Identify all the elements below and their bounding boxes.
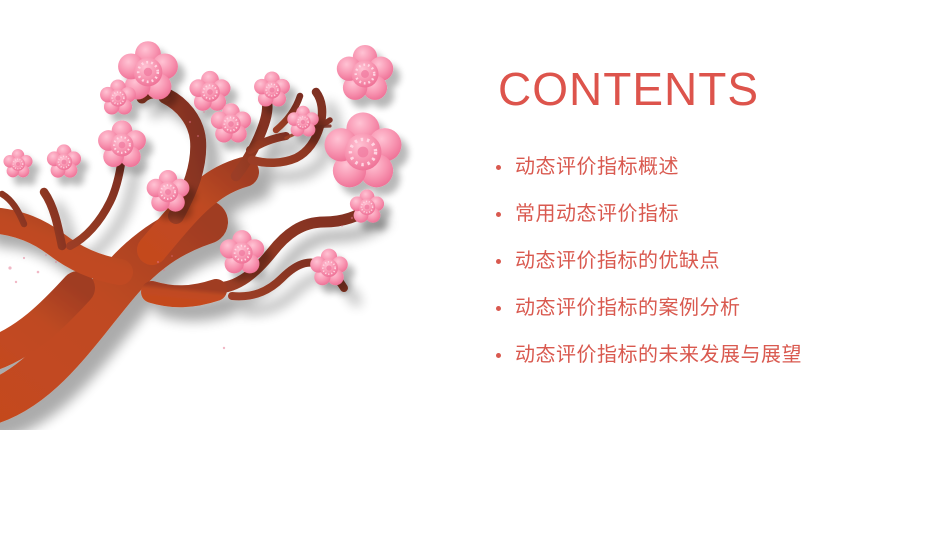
contents-panel: CONTENTS 动态评价指标概述 常用动态评价指标 动态评价指标的优缺点 动态… [470, 0, 950, 535]
toc-item-4[interactable]: 动态评价指标的案例分析 [480, 291, 840, 325]
toc-item-label: 动态评价指标的案例分析 [515, 291, 840, 325]
bullet-icon [496, 259, 501, 264]
slide-canvas: CONTENTS 动态评价指标概述 常用动态评价指标 动态评价指标的优缺点 动态… [0, 0, 950, 535]
toc-item-2[interactable]: 常用动态评价指标 [480, 197, 840, 231]
toc-item-label: 动态评价指标的未来发展与展望 [515, 338, 840, 372]
toc-item-label: 动态评价指标的优缺点 [515, 244, 840, 278]
toc-item-3[interactable]: 动态评价指标的优缺点 [480, 244, 840, 278]
toc-item-label: 常用动态评价指标 [515, 197, 840, 231]
table-of-contents: 动态评价指标概述 常用动态评价指标 动态评价指标的优缺点 动态评价指标的案例分析… [480, 150, 840, 385]
bullet-icon [496, 212, 501, 217]
toc-item-1[interactable]: 动态评价指标概述 [480, 150, 840, 184]
toc-item-5[interactable]: 动态评价指标的未来发展与展望 [480, 338, 840, 372]
tree-branches [0, 92, 370, 404]
bullet-icon [496, 165, 501, 170]
bullet-icon [496, 353, 501, 358]
bullet-icon [496, 306, 501, 311]
page-title: CONTENTS [498, 66, 759, 112]
toc-item-label: 动态评价指标概述 [515, 150, 840, 184]
plum-blossom-tree-illustration [0, 0, 440, 430]
